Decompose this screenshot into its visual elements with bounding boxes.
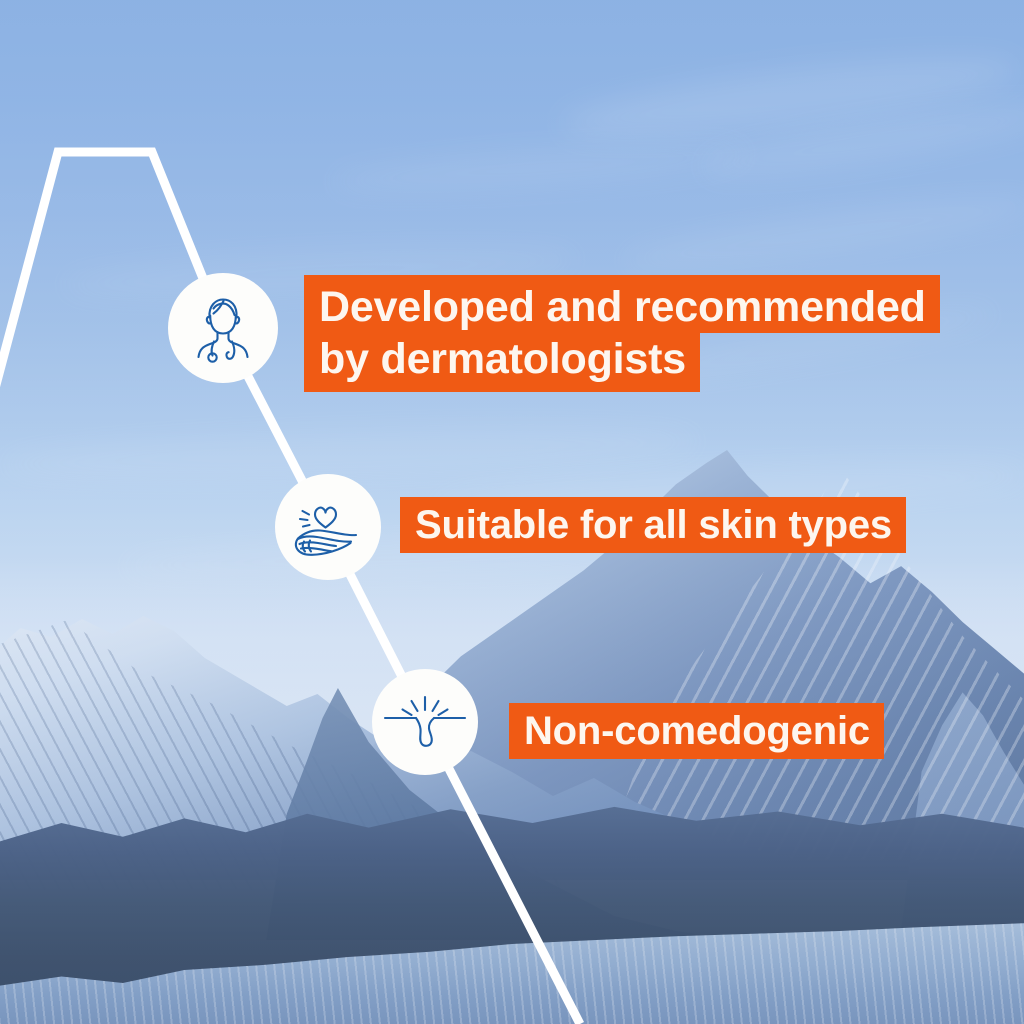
feature-icon-circle-non-comedogenic[interactable] xyxy=(372,669,478,775)
dermatologist-icon xyxy=(186,291,260,365)
feature-icon-circle-skin-types[interactable] xyxy=(275,474,381,580)
hand-heart-icon xyxy=(290,492,366,562)
banner-line: Developed and recommended xyxy=(304,275,940,333)
feature-banner-non-comedogenic: Non-comedogenic xyxy=(509,703,884,759)
banner-line: Suitable for all skin types xyxy=(400,497,906,553)
infographic-canvas: Developed and recommended by dermatologi… xyxy=(0,0,1024,1024)
feature-banner-dermatologist: Developed and recommended by dermatologi… xyxy=(304,275,940,392)
feature-banner-skin-types: Suitable for all skin types xyxy=(400,497,906,553)
feature-icon-circle-dermatologist[interactable] xyxy=(168,273,278,383)
banner-line: by dermatologists xyxy=(304,333,700,392)
banner-line: Non-comedogenic xyxy=(509,703,884,759)
pore-follicle-icon xyxy=(383,690,467,754)
